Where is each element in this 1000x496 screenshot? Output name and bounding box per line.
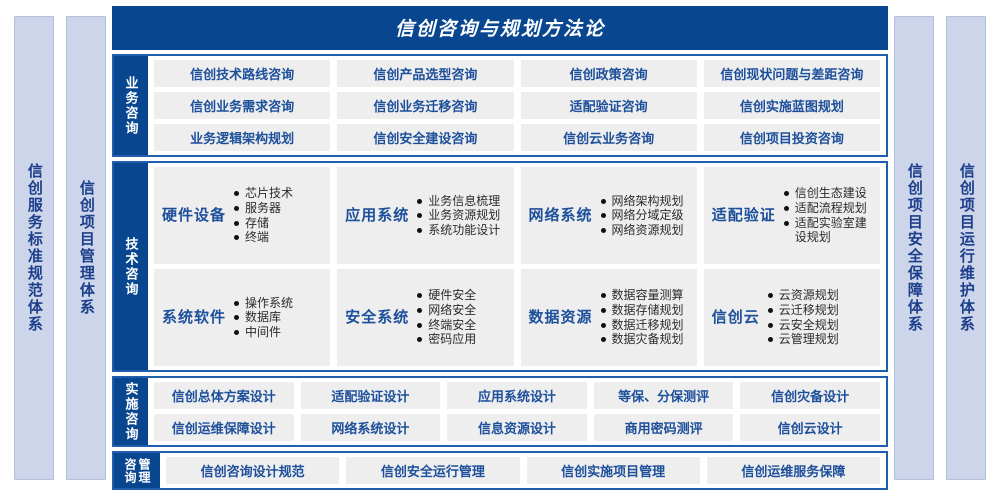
pillar-label: 信创项目安全保障体系 [906, 163, 922, 333]
card-list-item: 适配实验室建设规划 [784, 216, 872, 245]
pillar-project-management-system: 信创项目管理体系 [66, 16, 106, 480]
chip-item[interactable]: 信创安全建设咨询 [337, 124, 513, 151]
card-list-item: 硬件安全 [417, 288, 505, 303]
panel-implementation-consulting: 信创总体方案设计 适配验证设计 应用系统设计 等保、分保测评 信创灾备设计 信创… [148, 378, 886, 445]
center-stack: 信创咨询与规划方法论 业务咨询 信创技术路线咨询 信创产品选型咨询 信创政策咨询… [112, 6, 888, 490]
card-title: 适配验证 [712, 207, 776, 224]
chip-item[interactable]: 信创技术路线咨询 [154, 60, 330, 87]
card-system-software[interactable]: 系统软件 操作系统 数据库 中间件 [154, 269, 330, 366]
panel-consulting-management: 信创咨询设计规范 信创安全运行管理 信创实施项目管理 信创运维服务保障 [160, 453, 886, 488]
chip-item[interactable]: 业务逻辑架构规划 [154, 124, 330, 151]
row-label-technical-consulting: 技术咨询 [114, 163, 148, 370]
card-list-item: 密码应用 [417, 332, 505, 347]
card-list-item: 云管理规划 [768, 332, 872, 347]
card-adaptation-verification[interactable]: 适配验证 信创生态建设 适配流程规划 适配实验室建设规划 [704, 167, 880, 264]
card-application-system[interactable]: 应用系统 业务信息梳理 业务资源规划 系统功能设计 [337, 167, 513, 264]
chip-item[interactable]: 信创安全运行管理 [346, 457, 519, 484]
chip-item[interactable]: 等保、分保测评 [594, 382, 734, 409]
methodology-diagram: 信创服务标准规范体系 信创项目管理体系 信创咨询与规划方法论 业务咨询 信创技术… [0, 0, 1000, 496]
card-security-system[interactable]: 安全系统 硬件安全 网络安全 终端安全 密码应用 [337, 269, 513, 366]
card-list-item: 业务资源规划 [417, 208, 505, 223]
card-list: 云资源规划 云迁移规划 云安全规划 云管理规划 [768, 288, 872, 347]
card-row: 系统软件 操作系统 数据库 中间件 安全系统 硬件安全 网络安全 终端安全 [154, 269, 880, 366]
chip-item[interactable]: 信创灾备设计 [740, 382, 880, 409]
card-title: 信创云 [712, 309, 760, 326]
chip-row: 信创技术路线咨询 信创产品选型咨询 信创政策咨询 信创现状问题与差距咨询 [154, 60, 880, 87]
card-row: 硬件设备 芯片技术 服务器 存储 终端 应用系统 业务信息梳理 业务资源规划 [154, 167, 880, 264]
card-list-item: 数据迁移规划 [601, 318, 689, 333]
card-list: 业务信息梳理 业务资源规划 系统功能设计 [417, 194, 505, 238]
chip-item[interactable]: 信创业务迁移咨询 [337, 92, 513, 119]
row-label-col2: 管理 [138, 458, 150, 484]
card-list-item: 适配流程规划 [784, 201, 872, 216]
card-title: 系统软件 [162, 309, 226, 326]
card-list-item: 网络分域定级 [601, 208, 689, 223]
card-list-item: 数据存储规划 [601, 303, 689, 318]
chip-item[interactable]: 网络系统设计 [301, 414, 441, 441]
card-list: 网络架构规划 网络分域定级 网络资源规划 [601, 194, 689, 238]
chip-item[interactable]: 信创项目投资咨询 [704, 124, 880, 151]
card-title: 应用系统 [345, 207, 409, 224]
chip-item[interactable]: 信创咨询设计规范 [166, 457, 339, 484]
row-label-implementation-consulting: 实施咨询 [114, 378, 148, 445]
band-technical-consulting: 技术咨询 硬件设备 芯片技术 服务器 存储 终端 应用系统 [112, 161, 888, 372]
card-list: 芯片技术 服务器 存储 终端 [234, 186, 322, 245]
card-list-item: 中间件 [234, 325, 322, 340]
card-list-item: 信创生态建设 [784, 186, 872, 201]
card-title: 安全系统 [345, 309, 409, 326]
pillar-label: 信创项目运行维护体系 [958, 163, 974, 333]
chip-item[interactable]: 信息资源设计 [447, 414, 587, 441]
row-label-consulting-management: 咨询 管理 [114, 453, 160, 488]
band-implementation-consulting: 实施咨询 信创总体方案设计 适配验证设计 应用系统设计 等保、分保测评 信创灾备… [112, 376, 888, 447]
pillar-project-operation-system: 信创项目运行维护体系 [946, 16, 986, 480]
card-title: 网络系统 [529, 207, 593, 224]
band-business-consulting: 业务咨询 信创技术路线咨询 信创产品选型咨询 信创政策咨询 信创现状问题与差距咨… [112, 54, 888, 157]
chip-row: 业务逻辑架构规划 信创安全建设咨询 信创云业务咨询 信创项目投资咨询 [154, 124, 880, 151]
card-title: 数据资源 [529, 309, 593, 326]
card-list-item: 终端安全 [417, 318, 505, 333]
chip-item[interactable]: 信创现状问题与差距咨询 [704, 60, 880, 87]
chip-item[interactable]: 信创产品选型咨询 [337, 60, 513, 87]
card-list-item: 操作系统 [234, 296, 322, 311]
card-title: 硬件设备 [162, 207, 226, 224]
chip-row: 信创总体方案设计 适配验证设计 应用系统设计 等保、分保测评 信创灾备设计 [154, 382, 880, 409]
panel-business-consulting: 信创技术路线咨询 信创产品选型咨询 信创政策咨询 信创现状问题与差距咨询 信创业… [148, 56, 886, 155]
card-list-item: 数据容量测算 [601, 288, 689, 303]
card-list: 信创生态建设 适配流程规划 适配实验室建设规划 [784, 186, 872, 245]
card-list: 硬件安全 网络安全 终端安全 密码应用 [417, 288, 505, 347]
card-list-item: 存储 [234, 216, 322, 231]
chip-item[interactable]: 信创实施项目管理 [527, 457, 700, 484]
card-list: 操作系统 数据库 中间件 [234, 296, 322, 340]
band-consulting-management: 咨询 管理 信创咨询设计规范 信创安全运行管理 信创实施项目管理 信创运维服务保… [112, 451, 888, 490]
panel-technical-consulting: 硬件设备 芯片技术 服务器 存储 终端 应用系统 业务信息梳理 业务资源规划 [148, 163, 886, 370]
chip-row: 信创业务需求咨询 信创业务迁移咨询 适配验证咨询 信创实施蓝图规划 [154, 92, 880, 119]
card-hardware-devices[interactable]: 硬件设备 芯片技术 服务器 存储 终端 [154, 167, 330, 264]
card-list-item: 网络安全 [417, 303, 505, 318]
pillar-label: 信创项目管理体系 [78, 180, 94, 316]
chip-item[interactable]: 信创政策咨询 [521, 60, 697, 87]
chip-item[interactable]: 适配验证咨询 [521, 92, 697, 119]
card-list-item: 网络资源规划 [601, 223, 689, 238]
chip-item[interactable]: 应用系统设计 [447, 382, 587, 409]
chip-item[interactable]: 信创业务需求咨询 [154, 92, 330, 119]
card-list-item: 终端 [234, 230, 322, 245]
card-network-system[interactable]: 网络系统 网络架构规划 网络分域定级 网络资源规划 [521, 167, 697, 264]
pillar-project-security-system: 信创项目安全保障体系 [894, 16, 934, 480]
card-list-item: 云迁移规划 [768, 303, 872, 318]
card-xinchuang-cloud[interactable]: 信创云 云资源规划 云迁移规划 云安全规划 云管理规划 [704, 269, 880, 366]
card-list-item: 芯片技术 [234, 186, 322, 201]
card-list-item: 网络架构规划 [601, 194, 689, 209]
chip-item[interactable]: 信创总体方案设计 [154, 382, 294, 409]
chip-row: 信创运维保障设计 网络系统设计 信息资源设计 商用密码测评 信创云设计 [154, 414, 880, 441]
chip-item[interactable]: 信创云业务咨询 [521, 124, 697, 151]
pillar-label: 信创服务标准规范体系 [26, 163, 42, 333]
card-list: 数据容量测算 数据存储规划 数据迁移规划 数据灾备规划 [601, 288, 689, 347]
card-list-item: 系统功能设计 [417, 223, 505, 238]
card-list-item: 云安全规划 [768, 318, 872, 333]
card-list-item: 数据库 [234, 310, 322, 325]
card-list-item: 业务信息梳理 [417, 194, 505, 209]
card-data-resources[interactable]: 数据资源 数据容量测算 数据存储规划 数据迁移规划 数据灾备规划 [521, 269, 697, 366]
chip-row: 信创咨询设计规范 信创安全运行管理 信创实施项目管理 信创运维服务保障 [166, 457, 880, 484]
chip-item[interactable]: 信创运维保障设计 [154, 414, 294, 441]
pillar-service-standard-system: 信创服务标准规范体系 [14, 16, 54, 480]
card-list-item: 数据灾备规划 [601, 332, 689, 347]
chip-item[interactable]: 商用密码测评 [594, 414, 734, 441]
row-label-col1: 咨询 [124, 458, 136, 484]
chip-item[interactable]: 适配验证设计 [301, 382, 441, 409]
row-label-business-consulting: 业务咨询 [114, 56, 148, 155]
chip-item[interactable]: 信创云设计 [740, 414, 880, 441]
page-title: 信创咨询与规划方法论 [112, 6, 888, 50]
card-list-item: 服务器 [234, 201, 322, 216]
card-list-item: 云资源规划 [768, 288, 872, 303]
chip-item[interactable]: 信创运维服务保障 [707, 457, 880, 484]
chip-item[interactable]: 信创实施蓝图规划 [704, 92, 880, 119]
